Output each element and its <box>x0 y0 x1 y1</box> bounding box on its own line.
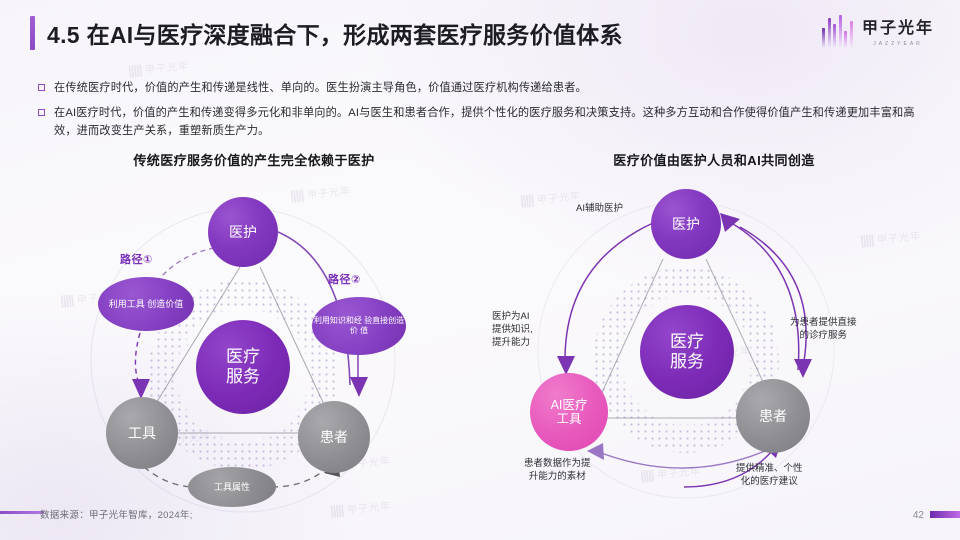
data-source-note: 数据来源：甲子光年智库，2024年; <box>40 507 193 521</box>
bullet-list: 在传统医疗时代，价值的产生和传递是线性、单向的。医生扮演主导角色，价值通过医疗机… <box>38 80 928 148</box>
page-header: 4.5 在AI与医疗深度融合下，形成两套医疗服务价值体系 甲子光年 JAZZYE… <box>0 0 960 74</box>
logo-bars-icon <box>822 14 853 48</box>
node-ai-medical-tool[interactable]: AI医疗 工具 <box>530 373 608 451</box>
label-ai-assists-provider: AI辅助医护 <box>576 203 623 216</box>
brand-logo: 甲子光年 JAZZYEAR <box>822 14 934 48</box>
title-group: 4.5 在AI与医疗深度融合下，形成两套医疗服务价值体系 <box>30 16 623 50</box>
left-diagram-panel: 传统医疗服务价值的产生完全依赖于医护 医护 <box>28 150 480 495</box>
right-diagram-panel: 医疗价值由医护人员和AI共同创造 医护 <box>488 150 940 500</box>
title-accent-bar <box>30 16 35 50</box>
left-panel-title: 传统医疗服务价值的产生完全依赖于医护 <box>28 150 480 169</box>
page-title: 4.5 在AI与医疗深度融合下，形成两套医疗服务价值体系 <box>47 16 623 50</box>
right-panel-title: 医疗价值由医护人员和AI共同创造 <box>488 150 940 169</box>
footer-page-accent <box>930 511 960 518</box>
bubble-create-value-with-tools[interactable]: 利用工具 创造价值 <box>98 277 194 331</box>
node-provider[interactable]: 医护 <box>208 197 278 267</box>
square-bullet-icon <box>38 109 45 116</box>
node-patient[interactable]: 患者 <box>298 401 370 473</box>
list-item: 在传统医疗时代，价值的产生和传递是线性、单向的。医生扮演主导角色，价值通过医疗机… <box>38 80 928 97</box>
label-path-2: 路径② <box>328 273 361 288</box>
label-provider-to-patient: 为患者提供直接 的诊疗服务 <box>790 317 857 343</box>
node-tool[interactable]: 工具 <box>106 397 178 469</box>
bubble-create-value-with-knowledge[interactable]: 利用知识和经 验直接创造价 值 <box>312 297 406 355</box>
bullet-text: 在AI医疗时代，价值的产生和传递变得多元化和非单向的。AI与医生和患者合作，提供… <box>54 105 928 140</box>
bubble-tool-attribute[interactable]: 工具属性 <box>188 467 276 507</box>
label-provider-to-ai: 医护为AI 提供知识, 提升能力 <box>492 311 533 349</box>
list-item: 在AI医疗时代，价值的产生和传递变得多元化和非单向的。AI与医生和患者合作，提供… <box>38 105 928 140</box>
right-diagram-stage: 医护 医疗 服务 AI医疗 工具 患者 AI辅助医护 医护为AI 提供知识, 提… <box>488 175 940 500</box>
watermark: ||||| 甲子光年 <box>329 497 391 518</box>
logo-name-cn: 甲子光年 <box>862 21 934 38</box>
square-bullet-icon <box>38 84 45 91</box>
left-diagram-stage: 医护 医疗 服务 工具 患者 利用工具 创造价值 利用知识和经 验直接创造价 <box>28 175 480 495</box>
node-medical-service[interactable]: 医疗 服务 <box>640 305 734 399</box>
node-medical-service[interactable]: 医疗 服务 <box>196 320 290 414</box>
page-number: 42 <box>913 510 924 521</box>
label-ai-to-patient: 提供精准、个性 化的医疗建议 <box>736 463 803 489</box>
bullet-text: 在传统医疗时代，价值的产生和传递是线性、单向的。医生扮演主导角色，价值通过医疗机… <box>54 80 587 97</box>
logo-text: 甲子光年 JAZZYEAR <box>862 21 934 48</box>
label-path-1: 路径① <box>120 253 153 268</box>
node-provider[interactable]: 医护 <box>651 189 721 259</box>
label-patient-data-to-ai: 患者数据作为提 升能力的素材 <box>524 458 591 484</box>
node-patient[interactable]: 患者 <box>736 379 810 453</box>
logo-name-en: JAZZYEAR <box>873 41 923 47</box>
footer-accent-rule <box>0 511 44 514</box>
